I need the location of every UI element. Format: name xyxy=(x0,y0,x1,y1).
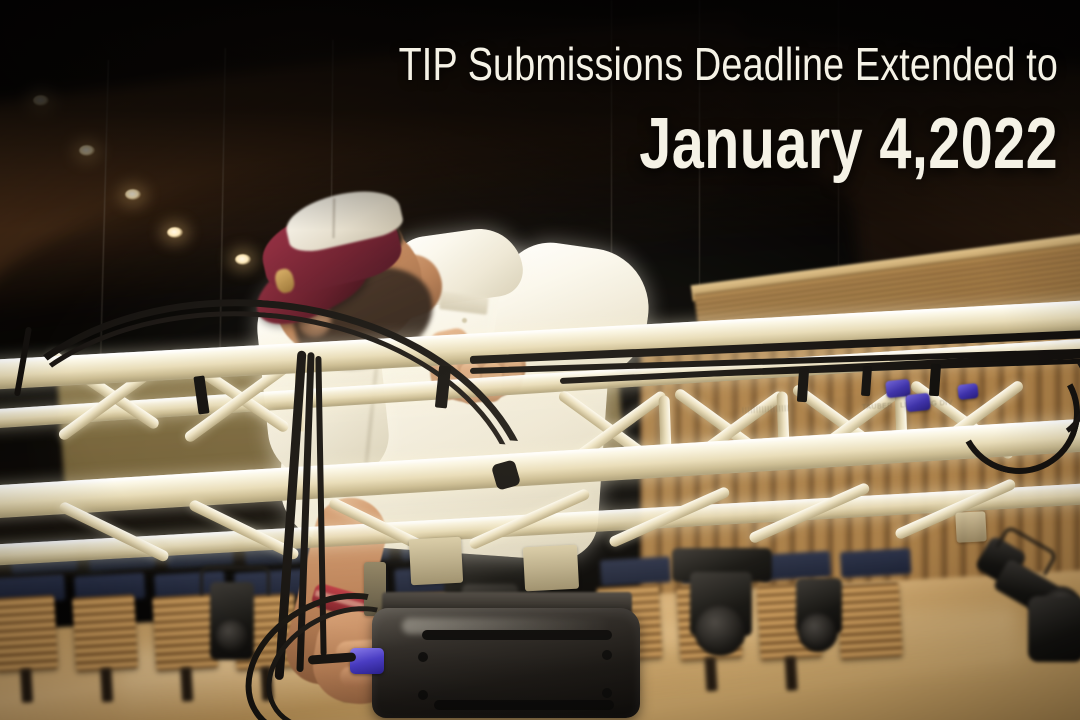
fixture-vent-slot xyxy=(422,630,612,640)
photo-scene: TAUBER LIGHTING DIV ||||||||||||||||| xyxy=(0,0,1080,720)
cable-arc-main-2 xyxy=(0,293,536,521)
fixture-screw xyxy=(602,650,612,660)
fixture-vent-slot xyxy=(434,700,614,710)
velcro-tie xyxy=(929,364,941,397)
foreground-moving-head xyxy=(372,608,642,720)
velcro-tie xyxy=(861,366,872,397)
velcro-tie xyxy=(797,368,809,403)
fixture-screw xyxy=(418,690,428,700)
fixture-screw xyxy=(418,652,428,662)
fixture-screw xyxy=(602,688,612,698)
banner-image: TAUBER LIGHTING DIV ||||||||||||||||| xyxy=(0,0,1080,720)
powercon-connector-in-hand xyxy=(350,648,384,674)
